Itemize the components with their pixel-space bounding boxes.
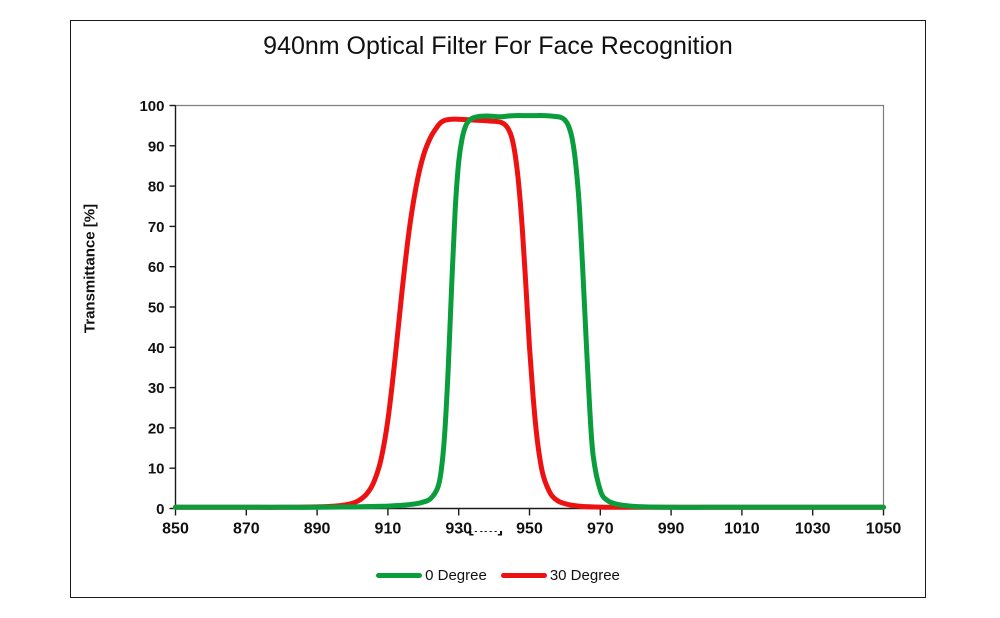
legend-item-30-degree[interactable]: 30 Degree bbox=[501, 567, 620, 584]
chart-figure: 940nm Optical Filter For Face Recognitio… bbox=[0, 0, 1000, 618]
legend-item-0-degree[interactable]: 0 Degree bbox=[376, 567, 487, 584]
y-tick-label: 0 bbox=[156, 501, 164, 518]
legend-swatch-green bbox=[376, 573, 422, 578]
y-tick-label: 100 bbox=[139, 98, 164, 115]
x-tick-label: 970 bbox=[587, 521, 614, 538]
y-tick-label: 80 bbox=[148, 179, 165, 196]
x-axis-label: λ [nm] bbox=[399, 531, 559, 553]
y-tick-label: 70 bbox=[148, 219, 165, 236]
y-tick-label: 10 bbox=[148, 461, 165, 478]
x-tick-label: 1030 bbox=[795, 521, 831, 538]
x-axis-label-text: λ [nm] bbox=[399, 531, 559, 537]
y-tick-label: 20 bbox=[148, 420, 165, 437]
x-tick-label: 870 bbox=[233, 521, 260, 538]
x-tick-label: 910 bbox=[375, 521, 402, 538]
legend-label-0-degree: 0 Degree bbox=[425, 567, 487, 584]
chart-legend: 0 Degree 30 Degree bbox=[70, 563, 926, 587]
x-tick-label: 990 bbox=[658, 521, 685, 538]
y-tick-label: 50 bbox=[148, 300, 165, 317]
legend-label-30-degree: 30 Degree bbox=[550, 567, 620, 584]
legend-swatch-red bbox=[501, 573, 547, 578]
x-tick-label: 850 bbox=[162, 521, 189, 538]
y-tick-label: 30 bbox=[148, 380, 165, 397]
series-line-30-degree bbox=[176, 119, 884, 507]
plot-canvas: 0102030405060708090100850870890910930950… bbox=[0, 0, 1000, 618]
x-tick-label: 1010 bbox=[724, 521, 760, 538]
y-tick-label: 60 bbox=[148, 259, 165, 276]
x-tick-label: 890 bbox=[304, 521, 331, 538]
y-tick-label: 40 bbox=[148, 340, 165, 357]
x-tick-label: 1050 bbox=[866, 521, 902, 538]
y-tick-label: 90 bbox=[148, 138, 165, 155]
